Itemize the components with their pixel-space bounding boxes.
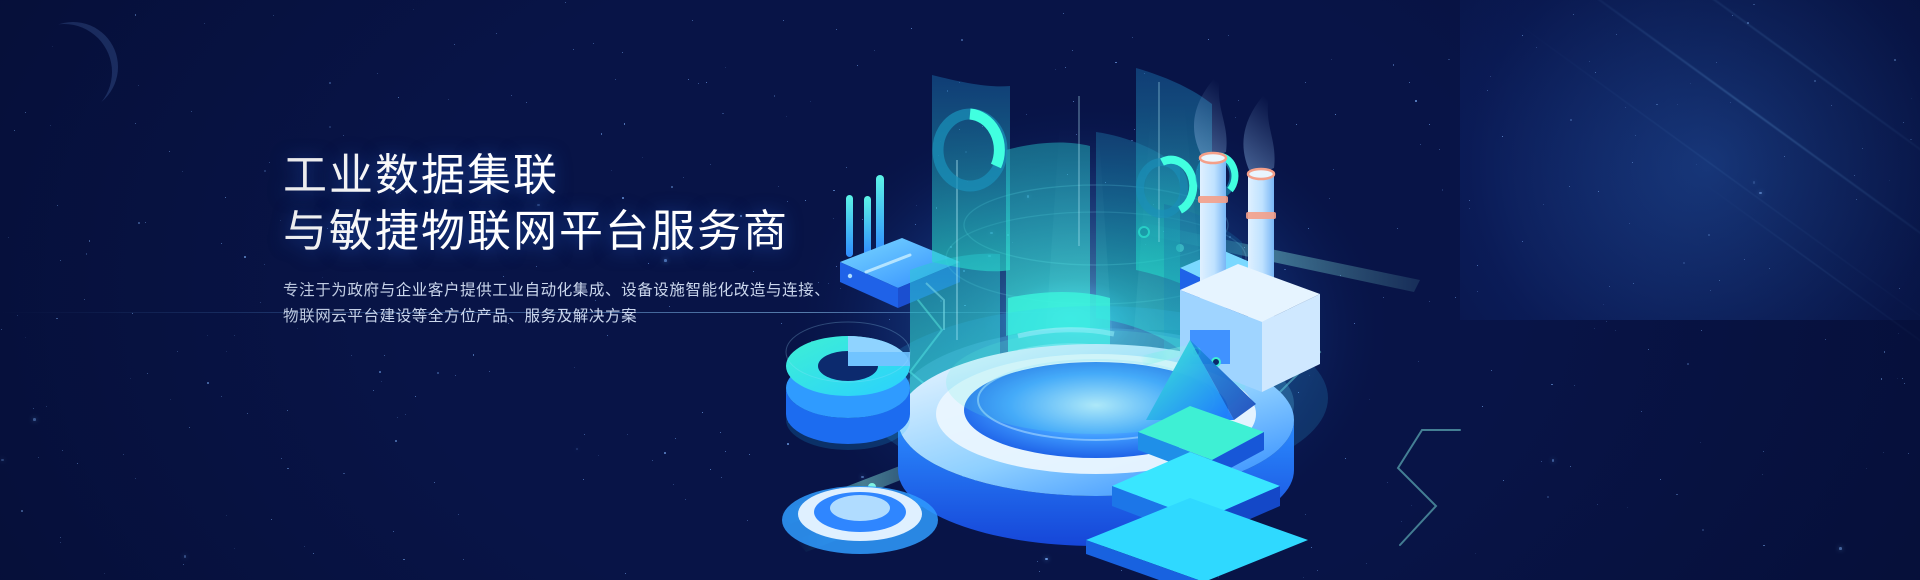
smoke-plume: [1194, 70, 1227, 160]
hero-illustration: [760, 0, 1920, 580]
hero-banner: 工业数据集联 与敏捷物联网平台服务商 专注于为政府与企业客户提供工业自动化集成、…: [0, 0, 1920, 580]
small-round-platform: [782, 486, 938, 554]
smoke-plume: [1243, 86, 1274, 176]
moon-arc: [28, 22, 118, 112]
